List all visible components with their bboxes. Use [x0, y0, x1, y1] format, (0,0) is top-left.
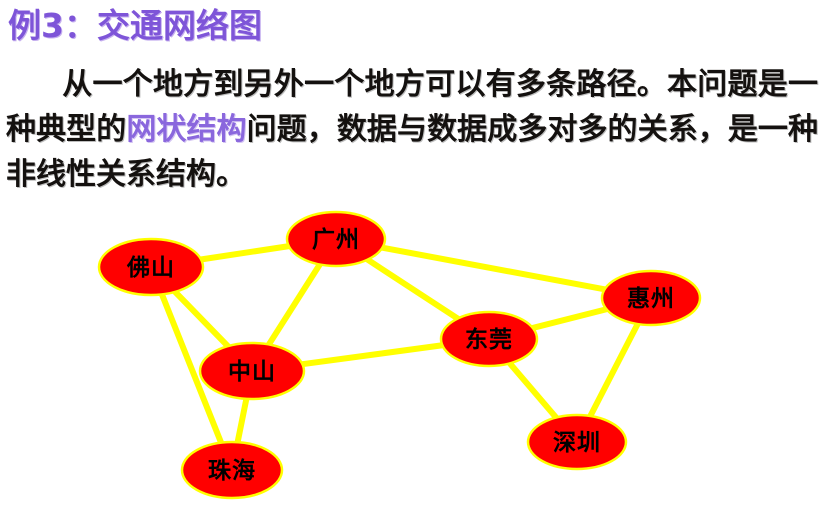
node-label-zhuhai: 珠海 [208, 457, 256, 484]
graph-edge-guangzhou-huizhou [380, 247, 606, 289]
graph-edge-zhongshan-zhuhai [237, 397, 247, 444]
page-title: 例3：交通网络图 [8, 6, 262, 46]
graph-edge-guangzhou-dongguan [366, 259, 459, 320]
node-label-guangzhou: 广州 [312, 226, 360, 253]
graph-edge-dongguan-shenzhen [508, 362, 557, 419]
graph-node-huizhou[interactable]: 惠州 [602, 271, 700, 325]
graph-node-guangzhou[interactable]: 广州 [287, 212, 385, 266]
node-label-foshan: 佛山 [126, 255, 175, 281]
node-label-shenzhen: 深圳 [553, 430, 601, 456]
page-title-text: 例3：交通网络图 [8, 6, 262, 45]
node-label-huizhou: 惠州 [627, 286, 675, 312]
graph-edge-zhongshan-dongguan [300, 345, 444, 364]
graph-node-dongguan[interactable]: 东莞 [441, 312, 537, 366]
graph-node-foshan[interactable]: 佛山 [99, 239, 203, 295]
graph-node-zhongshan[interactable]: 中山 [200, 343, 304, 399]
traffic-network-diagram: 佛山广州惠州东莞中山深圳珠海 [0, 198, 823, 508]
node-label-dongguan: 东莞 [465, 326, 513, 353]
graph-edge-guangzhou-zhongshan [268, 263, 321, 346]
network-graph-canvas: 佛山广州惠州东莞中山深圳珠海 [0, 198, 823, 508]
graph-edge-foshan-guangzhou [199, 246, 291, 260]
graph-edge-dongguan-huizhou [531, 309, 609, 329]
highlighted-term: 网状结构 [126, 112, 246, 147]
graph-node-zhuhai[interactable]: 珠海 [182, 442, 282, 498]
body-paragraph: 从一个地方到另外一个地方可以有多条路径。本问题是一种典型的网状结构问题，数据与数… [6, 62, 818, 197]
graph-edge-huizhou-shenzhen [589, 322, 638, 418]
graph-node-shenzhen[interactable]: 深圳 [528, 415, 626, 469]
node-label-zhongshan: 中山 [228, 359, 276, 385]
